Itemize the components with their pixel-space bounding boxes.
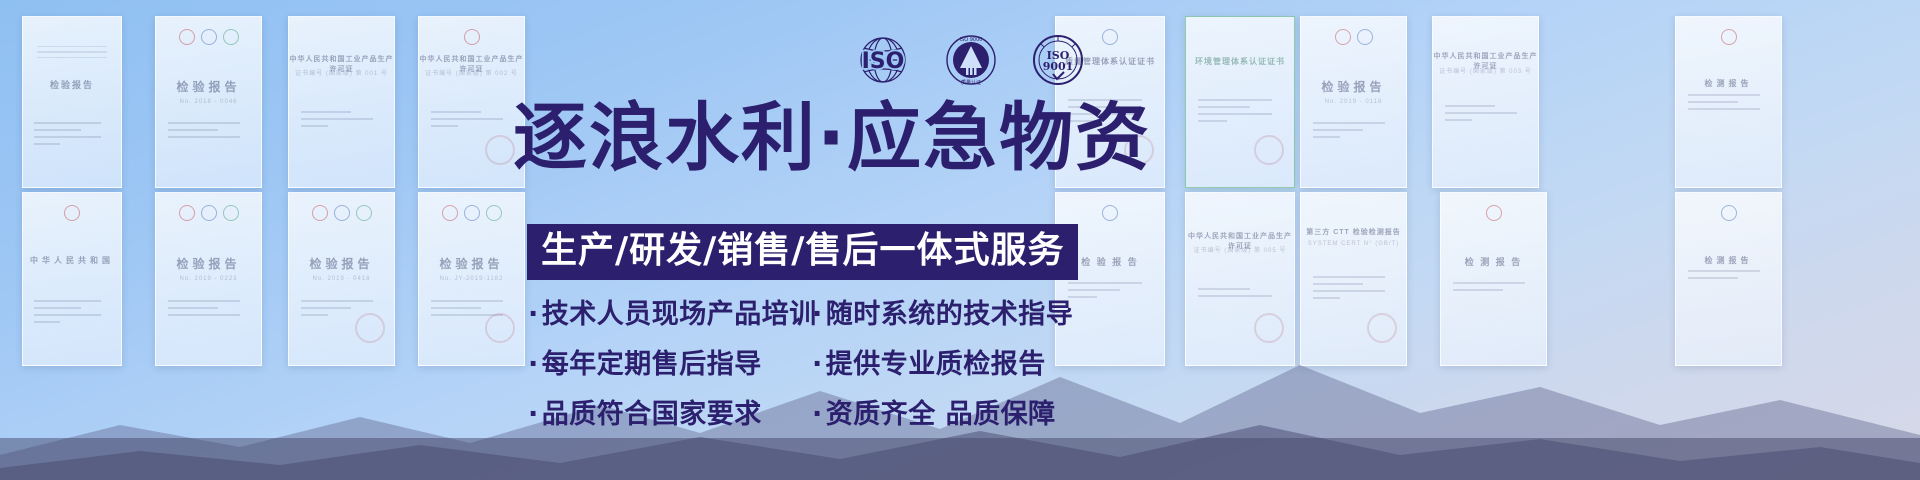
feature-label: 技术人员现场产品培训	[542, 299, 817, 330]
bullet-icon: ·	[528, 299, 539, 330]
svg-text:9001: 9001	[1043, 60, 1074, 73]
feature-label: 品质符合国家要求	[542, 399, 762, 430]
feature-label: 提供专业质检报告	[826, 349, 1046, 380]
feature-item: ·提供专业质检报告	[812, 350, 1052, 380]
iso-9001-badge-logo: ISO 9001	[1031, 34, 1085, 91]
feature-item: ·随时系统的技术指导	[812, 300, 1052, 330]
svg-text:ISO 9000: ISO 9000	[960, 37, 983, 43]
bullet-icon: ·	[812, 399, 823, 430]
feature-item: ·每年定期售后指导	[528, 350, 798, 380]
bullet-icon: ·	[812, 349, 823, 380]
svg-text:ISO: ISO	[862, 49, 905, 74]
certification-logo-row: ISO ISO 9000 质量认证	[855, 34, 1085, 91]
feature-item: ·品质符合国家要求	[528, 400, 798, 430]
svg-text:质量认证: 质量认证	[961, 79, 981, 86]
banner-title: 逐浪水利·应急物资	[513, 101, 1151, 175]
bullet-icon: ·	[812, 299, 823, 330]
feature-label: 随时系统的技术指导	[826, 299, 1074, 330]
bullet-icon: ·	[528, 349, 539, 380]
promo-banner: 检验报告 检验报告 No. 2018 - 0046 中华人民共和国工业产品生产许…	[0, 0, 1920, 480]
feature-list: ·技术人员现场产品培训 ·随时系统的技术指导 ·每年定期售后指导 ·提供专业质检…	[528, 300, 1052, 430]
banner-subtitle-bar: 生产/研发/销售/售后一体式服务	[527, 224, 1078, 280]
bullet-icon: ·	[528, 399, 539, 430]
quality-seal-logo: ISO 9000 质量认证	[944, 34, 998, 91]
feature-item: ·技术人员现场产品培训	[528, 300, 798, 330]
feature-label: 资质齐全 品质保障	[826, 399, 1056, 430]
feature-label: 每年定期售后指导	[542, 349, 762, 380]
feature-item: ·资质齐全 品质保障	[812, 400, 1052, 430]
banner-subtitle-text: 生产/研发/销售/售后一体式服务	[541, 231, 1064, 271]
iso-globe-logo: ISO	[855, 34, 911, 91]
